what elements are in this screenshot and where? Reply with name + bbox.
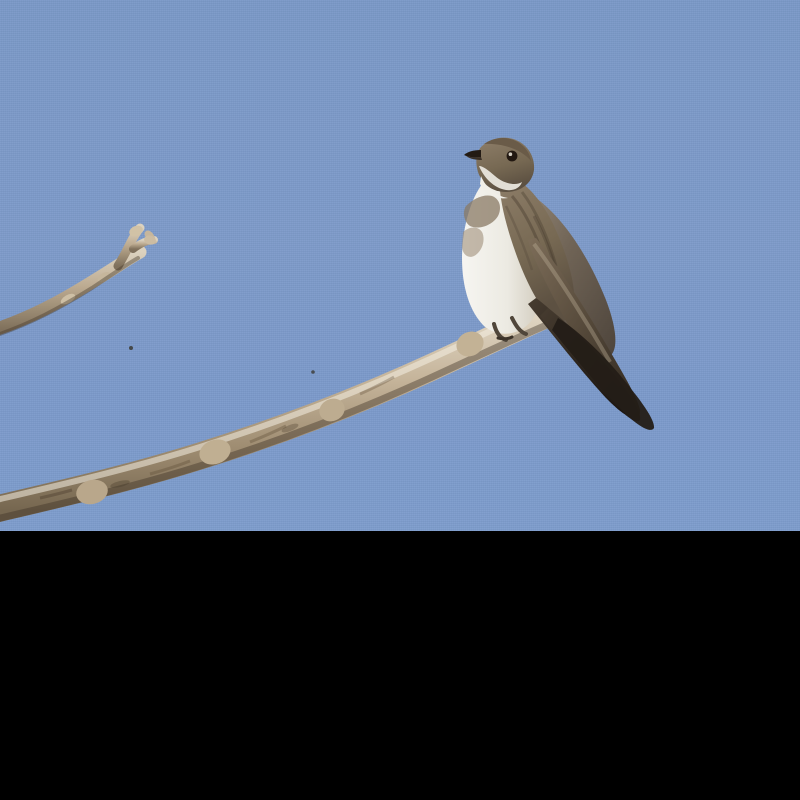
photograph: [0, 0, 800, 531]
bird-brown-chested-martin: [462, 138, 654, 430]
bird-photo-card: Golondrina parda Brown-chested Martin Pr…: [0, 0, 800, 800]
photo-scene: [0, 0, 800, 531]
species-name-panel: Golondrina parda Brown-chested Martin Pr…: [0, 531, 800, 736]
bird-eye: [507, 151, 518, 162]
insect-speck: [129, 346, 133, 350]
twig-upper-left: [0, 224, 157, 336]
insect-speck: [311, 370, 315, 374]
footer-bar: Golondrina parda — Progne tapera Fotógra…: [0, 736, 800, 800]
